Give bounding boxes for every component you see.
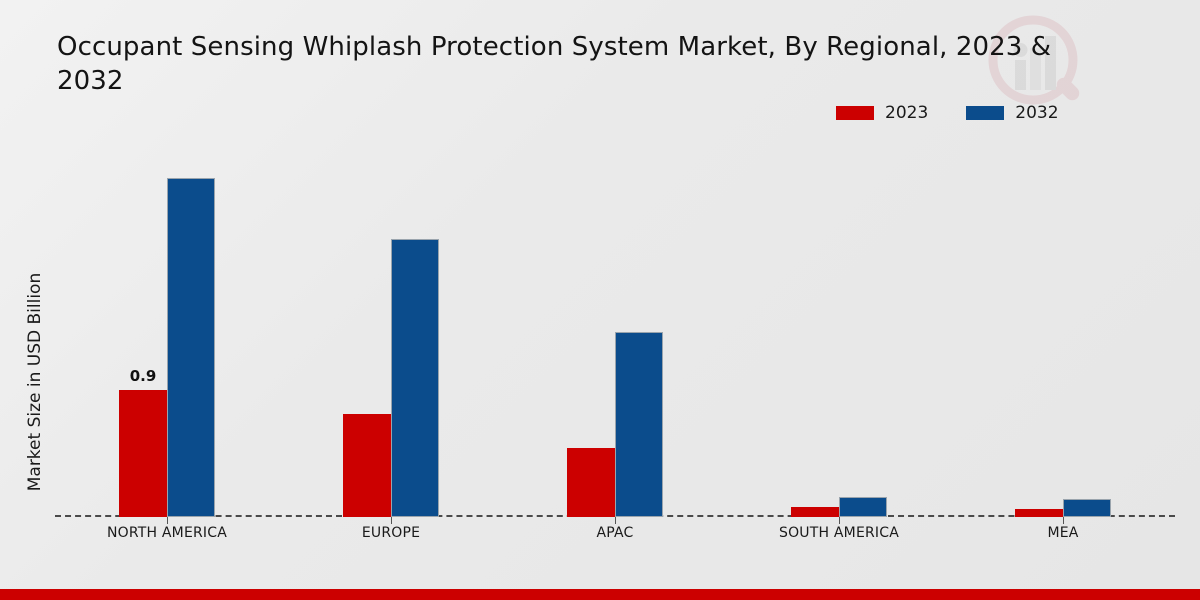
legend-swatch-2032 <box>966 106 1004 120</box>
legend-swatch-2023 <box>836 106 874 120</box>
category-label-mea: MEA <box>951 524 1175 542</box>
legend-item-2023[interactable]: 2023 <box>836 103 928 123</box>
plot-area: 0.9 NORTH AMERICA EUROPE APAC <box>55 150 1175 517</box>
legend-label-2032: 2032 <box>1015 103 1058 123</box>
x-tick-mea <box>1063 517 1064 524</box>
category-label-south-america: SOUTH AMERICA <box>727 524 951 542</box>
chart-title: Occupant Sensing Whiplash Protection Sys… <box>57 30 1067 98</box>
bar-2032-apac[interactable] <box>615 332 663 517</box>
bar-2032-europe[interactable] <box>391 239 439 517</box>
legend-item-2032[interactable]: 2032 <box>966 103 1058 123</box>
bar-2032-north-america[interactable] <box>167 178 215 517</box>
x-tick-north-america <box>167 517 168 524</box>
legend-label-2023: 2023 <box>885 103 928 123</box>
category-label-europe: EUROPE <box>279 524 503 542</box>
bar-2032-south-america[interactable] <box>839 497 887 517</box>
bar-group-apac: APAC <box>503 150 727 517</box>
bars-europe <box>343 150 439 517</box>
bar-2023-south-america[interactable] <box>791 507 839 517</box>
bar-2023-apac[interactable] <box>567 448 615 517</box>
bars-south-america <box>791 150 887 517</box>
bar-value-2023-north-america: 0.9 <box>130 367 157 385</box>
footer-accent-strip <box>0 589 1200 600</box>
chart-container: Occupant Sensing Whiplash Protection Sys… <box>0 0 1200 600</box>
bar-2023-north-america[interactable]: 0.9 <box>119 390 167 517</box>
bar-group-north-america: 0.9 NORTH AMERICA <box>55 150 279 517</box>
x-tick-apac <box>615 517 616 524</box>
x-tick-europe <box>391 517 392 524</box>
chart-legend: 2023 2032 <box>836 103 1059 123</box>
bar-group-europe: EUROPE <box>279 150 503 517</box>
bars-north-america: 0.9 <box>119 150 215 517</box>
y-axis-title: Market Size in USD Billion <box>25 192 45 572</box>
bar-group-mea: MEA <box>951 150 1175 517</box>
bars-mea <box>1015 150 1111 517</box>
category-label-apac: APAC <box>503 524 727 542</box>
bar-2032-mea[interactable] <box>1063 499 1111 517</box>
category-label-north-america: NORTH AMERICA <box>55 524 279 542</box>
bar-2023-mea[interactable] <box>1015 509 1063 517</box>
x-tick-south-america <box>839 517 840 524</box>
bars-apac <box>567 150 663 517</box>
bar-group-south-america: SOUTH AMERICA <box>727 150 951 517</box>
bar-2023-europe[interactable] <box>343 414 391 517</box>
